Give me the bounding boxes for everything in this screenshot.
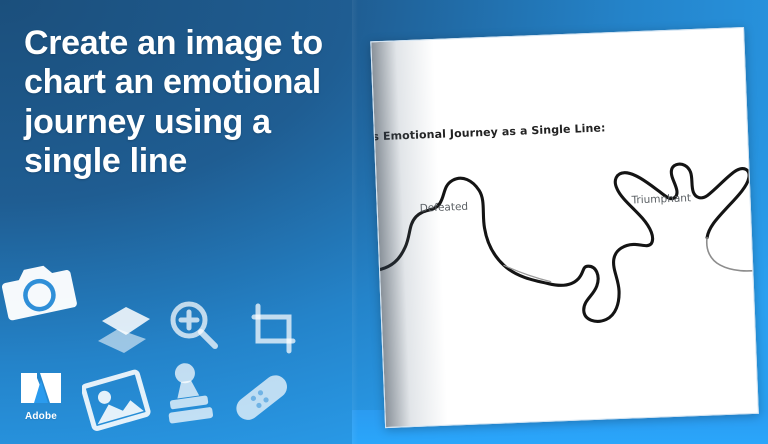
page-title: Create an image to chart an emotional jo…: [24, 24, 344, 182]
zoom-in-icon: [165, 298, 223, 356]
clone-stamp-icon: [155, 360, 221, 430]
healing-bandage-icon: [228, 367, 296, 429]
camera-icon: [2, 260, 78, 326]
emotional-journey-sketch: [375, 128, 756, 372]
promo-left-panel: Create an image to chart an emotional jo…: [0, 0, 352, 444]
label-defeated: Defeated: [420, 201, 469, 215]
adobe-wordmark: Adobe: [14, 411, 68, 422]
label-triumphant: Triumphant: [631, 192, 691, 206]
document-preview-area: 's Emotional Journey as a Single Line: D…: [352, 0, 768, 444]
image-icon: [82, 368, 152, 434]
adobe-logo-icon: [17, 371, 65, 405]
adobe-logo: Adobe: [14, 371, 68, 422]
crop-icon: [246, 303, 302, 355]
layers-icon: [92, 299, 154, 361]
slide-page: 's Emotional Journey as a Single Line: D…: [370, 27, 759, 428]
promo-banner: Create an image to chart an emotional jo…: [0, 0, 768, 444]
